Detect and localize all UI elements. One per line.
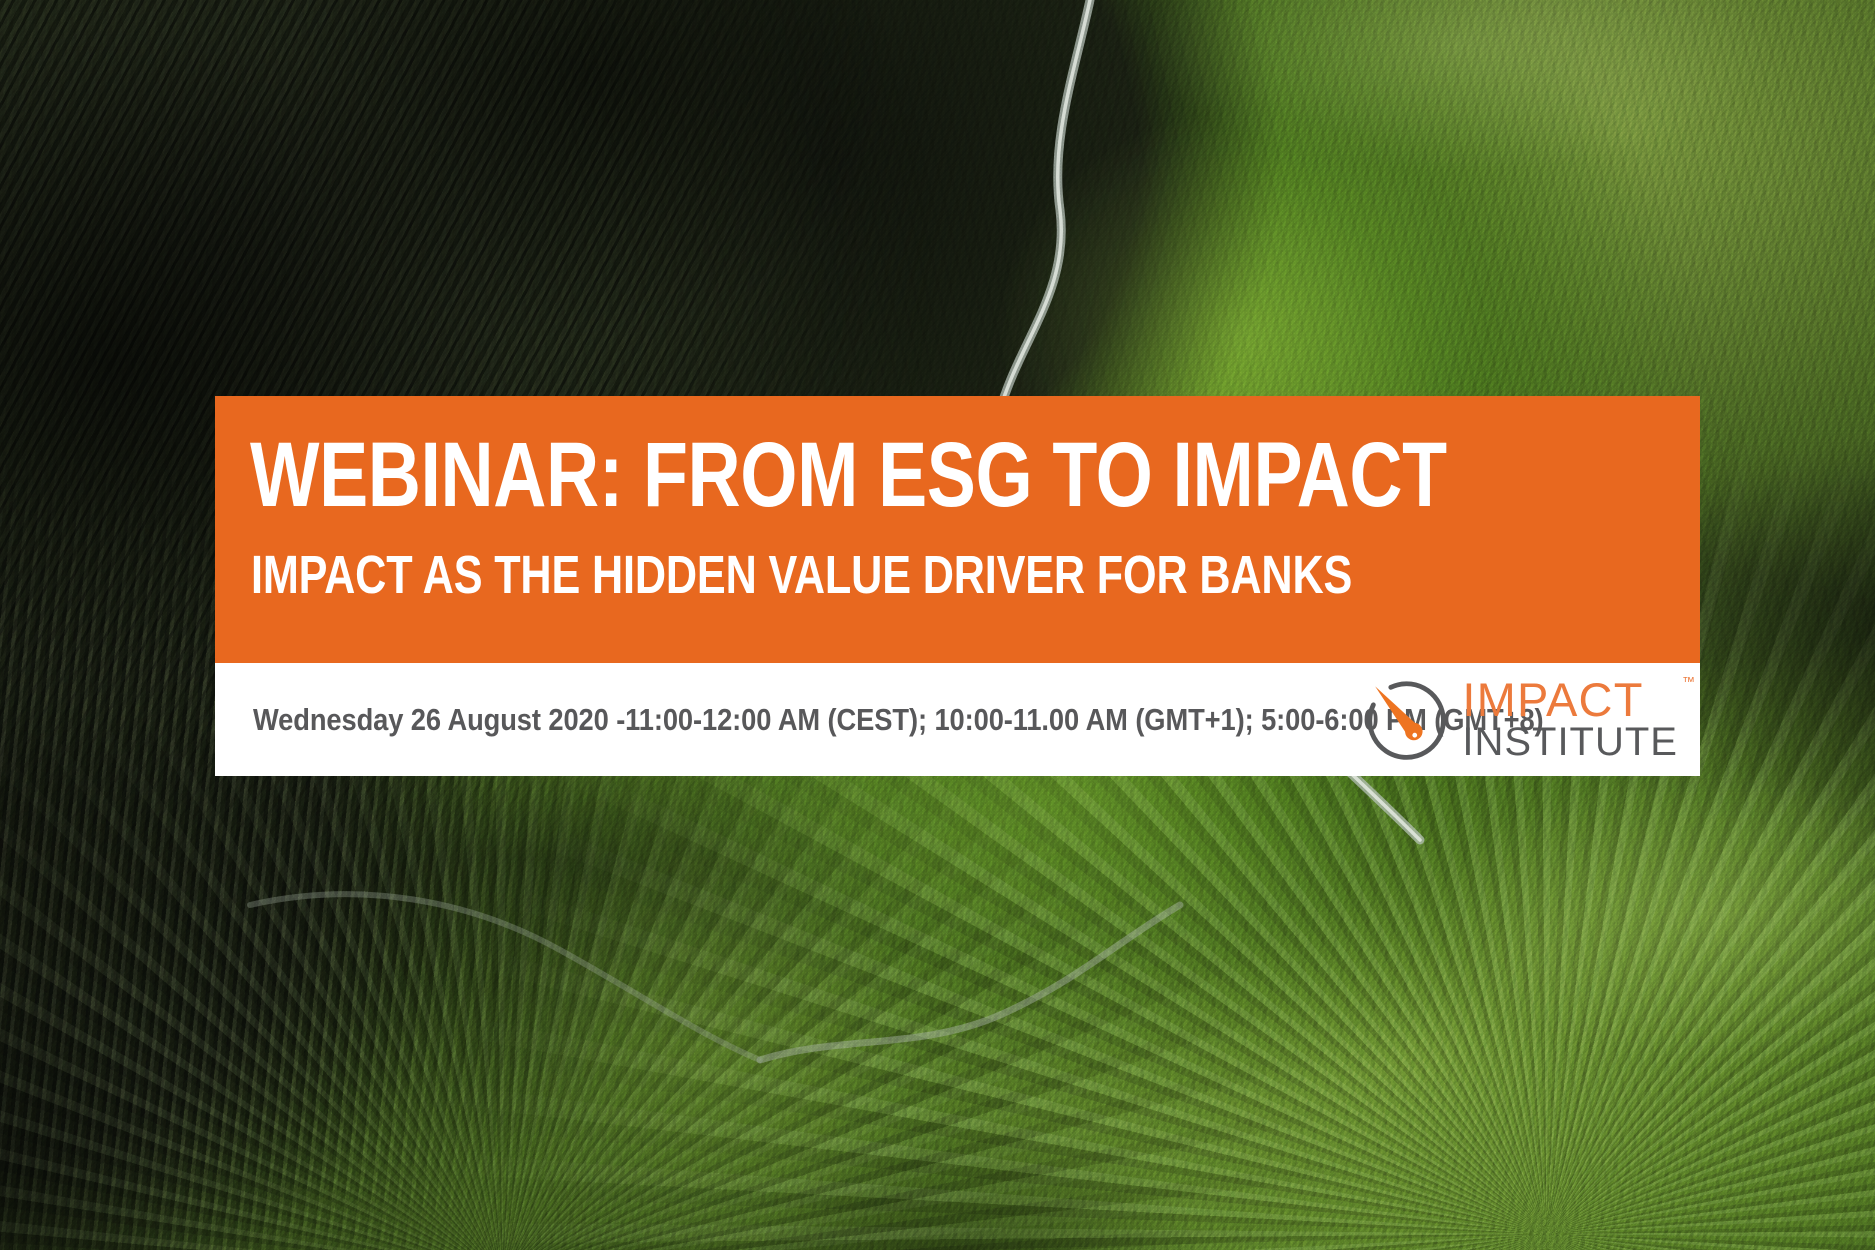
gauge-speedometer-icon — [1360, 674, 1452, 766]
event-datetime-text: Wednesday 26 August 2020 -11:00-12:00 AM… — [253, 702, 1544, 738]
logo-wordmark: IMPACT ™ INSTITUTE — [1462, 678, 1678, 761]
logo-impact-text: IMPACT — [1462, 673, 1643, 726]
impact-institute-logo: IMPACT ™ INSTITUTE — [1360, 674, 1678, 766]
logo-line-impact: IMPACT ™ — [1462, 678, 1678, 721]
title-banner: WEBINAR: FROM ESG TO IMPACT IMPACT AS TH… — [215, 396, 1700, 663]
info-bar: Wednesday 26 August 2020 -11:00-12:00 AM… — [215, 663, 1700, 776]
page-title: WEBINAR: FROM ESG TO IMPACT — [250, 432, 1447, 519]
page-subtitle: IMPACT AS THE HIDDEN VALUE DRIVER FOR BA… — [251, 548, 1352, 602]
trademark-symbol: ™ — [1682, 676, 1695, 688]
webinar-poster: WEBINAR: FROM ESG TO IMPACT IMPACT AS TH… — [0, 0, 1875, 1250]
logo-line-institute: INSTITUTE — [1462, 724, 1678, 761]
